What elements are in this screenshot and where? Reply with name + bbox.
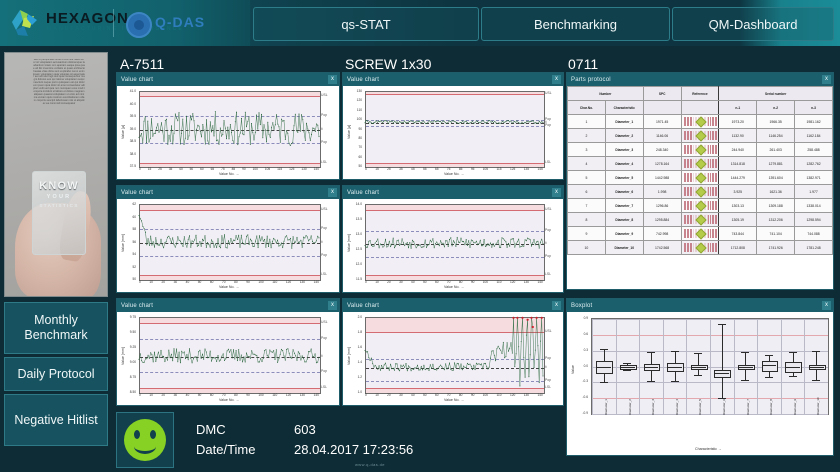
- spc-distribution-bars: [682, 243, 719, 252]
- lower-warning-line: [366, 381, 544, 382]
- upper-warning-line: [366, 120, 544, 121]
- close-icon[interactable]: x: [822, 301, 831, 310]
- panel-value-chart-2-2: Value chart x 14.013.513.012.512.011.501…: [342, 185, 564, 293]
- y-axis-label: Value [mm]: [121, 234, 125, 252]
- brand-name: HEXAGON: [46, 10, 129, 27]
- cell-characteristic: Diameter_7: [605, 199, 643, 213]
- y-tick-label: 1.0: [343, 390, 362, 394]
- promo-line-3: STATISTICS: [33, 203, 85, 208]
- whisker-cap-low: [741, 380, 749, 381]
- x-tick-label: 50: [423, 280, 427, 284]
- x-tick-label: 130: [524, 280, 529, 284]
- usl-line: [140, 96, 320, 97]
- x-tick-label: 25: [387, 167, 391, 171]
- x-tick-label: 140: [314, 280, 319, 284]
- y-tick-label: 0.3: [567, 348, 588, 352]
- panel-title: Value chart: [343, 190, 379, 196]
- cell-n3: 1781.248: [795, 241, 833, 255]
- cell-value: 1.998: [643, 185, 681, 199]
- y-tick-label: 70: [343, 145, 362, 149]
- group-header-spc: SPC: [643, 87, 681, 101]
- y-tick-label: 130: [343, 89, 362, 93]
- cell-spc-indicator: [681, 129, 719, 143]
- whisker-cap-high: [694, 353, 702, 354]
- x-tick-label: 135: [524, 167, 529, 171]
- cell-characteristic: Diameter_8: [605, 213, 643, 227]
- cell-value: 1295.884: [643, 213, 681, 227]
- y-tick-label: 9.00: [117, 360, 136, 364]
- whisker-line: [722, 324, 723, 398]
- table-body: 1Diameter_11971.451973.201966.351981.162…: [568, 115, 833, 255]
- y-tick-label: 60: [117, 215, 136, 219]
- x-tick-label: 60: [435, 280, 439, 284]
- x-tick-label: 130: [524, 393, 529, 397]
- y-tick-label: 100: [343, 117, 362, 121]
- plot-area: [365, 204, 545, 281]
- y-axis-label: Value [mm]: [347, 234, 351, 252]
- x-tick-label: 95: [471, 167, 475, 171]
- median-line: [714, 373, 729, 374]
- x-tick-label: 120: [286, 393, 291, 397]
- y-tick-label: 12.0: [343, 262, 362, 266]
- cell-spc-indicator: [681, 143, 719, 157]
- x-tick-label: 35: [169, 167, 173, 171]
- column-title-0711: 0711: [568, 56, 598, 72]
- sidebar-item-daily-protocol[interactable]: Daily Protocol: [4, 357, 108, 391]
- sidebar-item-negative-hitlist[interactable]: Negative Hitlist: [4, 394, 108, 446]
- table-row[interactable]: 9Diameter_9742.998743.844741.104744.088: [568, 227, 833, 241]
- spec-limit-label: LSL: [321, 272, 327, 276]
- group-header-number: Number: [568, 87, 644, 101]
- category-label: Diameter_3: [651, 399, 655, 415]
- dmc-value: 603: [294, 422, 316, 437]
- cell-value: 1146.06: [643, 129, 681, 143]
- panel-title: Value chart: [343, 303, 379, 309]
- spec-limit-label: USL: [545, 329, 552, 333]
- x-tick-label: 60: [200, 167, 204, 171]
- cell-spc-indicator: [681, 171, 719, 185]
- panel-body: Number SPC Reference Serial number Char.…: [567, 86, 833, 289]
- panel-title: Boxplot: [567, 303, 592, 309]
- panel-parts-protocol: Parts protocol x Number SPC Reference Se…: [566, 72, 834, 290]
- x-tick-label: 15: [375, 167, 379, 171]
- cell-n1: 1444.279: [719, 171, 757, 185]
- x-tick-label: 140: [314, 393, 319, 397]
- cell-n3: 1981.162: [795, 115, 833, 129]
- median-line: [596, 367, 611, 368]
- x-tick-label: 0: [139, 280, 141, 284]
- x-tick-label: 130: [301, 167, 306, 171]
- cell-n2: 1279.881: [757, 157, 795, 171]
- spec-limit-label: Pop: [321, 253, 327, 257]
- brand-bar: HEXAGON MANUFACTURING INTELLIGENCE Q-DAS: [0, 0, 250, 46]
- panel-value-chart-1-3: Value chart x 9.759.509.259.008.758.5001…: [116, 298, 340, 406]
- panel-title: Value chart: [343, 77, 379, 83]
- x-axis-label: Value No. →: [219, 398, 239, 402]
- x-tick-label: 90: [471, 280, 475, 284]
- y-tick-label: 39.5: [117, 114, 136, 118]
- cell-n3: 1.977: [795, 185, 833, 199]
- cell-n2: 1312.206: [757, 213, 795, 227]
- panel-header: Value chart x: [343, 186, 563, 199]
- y-tick-label: 1.8: [343, 330, 362, 334]
- x-tick-label: 80: [459, 393, 463, 397]
- sidebar-item-monthly-benchmark[interactable]: Monthly Benchmark: [4, 302, 108, 354]
- y-tick-label: 1.4: [343, 360, 362, 364]
- lsl-line: [140, 275, 320, 276]
- x-tick-label: 20: [161, 393, 165, 397]
- x-tick-label: 130: [300, 280, 305, 284]
- panel-header: Value chart x: [343, 299, 563, 312]
- cell-n3: 1338.014: [795, 199, 833, 213]
- y-tick-label: 120: [343, 98, 362, 102]
- cell-n2: 1741.926: [757, 241, 795, 255]
- box[interactable]: [762, 361, 779, 371]
- promo-line-2: YOUR: [33, 194, 85, 200]
- mean-line: [366, 368, 544, 369]
- category-separator: [734, 319, 735, 414]
- median-line: [785, 367, 800, 368]
- panel-header: Value chart x: [117, 186, 339, 199]
- spc-distribution-bars: [682, 145, 719, 154]
- x-tick-label: 40: [186, 393, 190, 397]
- table-row[interactable]: 1Diameter_11971.451973.201966.351981.162: [568, 115, 833, 129]
- close-icon[interactable]: x: [328, 75, 337, 84]
- x-tick-label: 140: [537, 280, 542, 284]
- spec-limit-label: x̄: [321, 354, 323, 358]
- x-tick-label: 60: [210, 280, 214, 284]
- whisker-cap-low: [647, 381, 655, 382]
- promo-image: sed ut perspiciatis unde omnis iste natu…: [4, 52, 108, 297]
- x-tick-label: 75: [447, 167, 451, 171]
- x-tick-label: 100: [253, 167, 258, 171]
- category-label: Diameter_9: [793, 399, 797, 415]
- x-tick-label: 0: [139, 167, 141, 171]
- x-tick-label: 120: [286, 280, 291, 284]
- spec-limit-label: USL: [321, 93, 328, 97]
- x-tick-label: 100: [483, 393, 488, 397]
- cell-characteristic: Diameter_10: [605, 241, 643, 255]
- y-axis-label: Value [mm]: [121, 347, 125, 365]
- x-tick-label: 100: [483, 280, 488, 284]
- panel-boxplot: Boxplot x 0.90.60.30.0-0.3-0.6-0.9Diamet…: [566, 298, 834, 456]
- plot-area: [139, 204, 321, 281]
- table-row[interactable]: 5Diameter_51442.9881444.2791391.6041382.…: [568, 171, 833, 185]
- median-line: [620, 367, 635, 368]
- x-tick-label: 30: [399, 393, 403, 397]
- whisker-cap-high: [765, 355, 773, 356]
- y-tick-label: 40.0: [117, 102, 136, 106]
- y-tick-label: 58: [117, 227, 136, 231]
- cell-value: 248.340: [643, 143, 681, 157]
- spec-limit-label: Pop: [545, 378, 551, 382]
- category-label: Diameter_5: [698, 399, 702, 415]
- spec-limit-label: USL: [321, 207, 328, 211]
- x-tick-label: 40: [179, 167, 183, 171]
- plot-area: [365, 91, 545, 168]
- category-separator: [710, 319, 711, 414]
- median-line: [762, 365, 777, 366]
- category-separator: [592, 319, 593, 414]
- spec-limit-label: LSL: [545, 160, 551, 164]
- x-tick-label: 55: [423, 167, 427, 171]
- tab-benchmarking[interactable]: Benchmarking: [481, 7, 670, 41]
- col-n2: n-2: [757, 101, 795, 115]
- whisker-cap-high: [623, 363, 631, 364]
- x-axis-label: Value No. →: [444, 398, 464, 402]
- panel-header: Value chart x: [343, 73, 563, 86]
- whisker-cap-low: [694, 375, 702, 376]
- spec-limit-label: USL: [321, 320, 328, 324]
- spec-limit-label: Pop: [545, 228, 551, 232]
- panel-title: Value chart: [117, 190, 153, 196]
- category-separator: [804, 319, 805, 414]
- y-tick-label: -0.9: [567, 411, 588, 415]
- median-line: [691, 367, 706, 368]
- cell-char-no: 1: [568, 115, 606, 129]
- usl-line: [140, 323, 320, 324]
- cell-value: 742.998: [643, 227, 681, 241]
- status-badge: [116, 412, 174, 468]
- table-row[interactable]: 2Diameter_21146.061132.901146.2541162.18…: [568, 129, 833, 143]
- spec-limit-label: x̄: [545, 241, 547, 245]
- x-tick-label: 0: [365, 280, 367, 284]
- whisker-cap-low: [789, 376, 797, 377]
- x-tick-label: 30: [174, 280, 178, 284]
- y-tick-label: 0.6: [567, 332, 588, 336]
- y-tick-label: 37.5: [117, 164, 136, 168]
- hexagon-logo-icon: [10, 8, 40, 38]
- x-tick-label: 10: [375, 280, 379, 284]
- cell-n1: 1305.19: [719, 213, 757, 227]
- cell-characteristic: Diameter_4: [605, 157, 643, 171]
- x-tick-label: 35: [399, 167, 403, 171]
- smiley-eye-right: [150, 430, 156, 439]
- panel-body: 9.759.509.259.008.758.500102030405060708…: [117, 312, 339, 405]
- panel-title: Parts protocol: [567, 77, 611, 83]
- panel-body: 2.01.81.61.41.21.00102030405060708090100…: [343, 312, 563, 405]
- y-tick-label: 9.25: [117, 345, 136, 349]
- category-label: Diameter_4: [675, 399, 679, 415]
- category-separator: [757, 319, 758, 414]
- lower-warning-line: [366, 257, 544, 258]
- spec-limit-label: LSL: [321, 385, 327, 389]
- x-tick-label: 20: [387, 393, 391, 397]
- brand-divider: [113, 9, 114, 37]
- y-tick-label: 8.50: [117, 390, 136, 394]
- category-separator: [663, 319, 664, 414]
- y-axis-label: Value [µ]: [121, 125, 125, 139]
- y-tick-label: 50: [343, 164, 362, 168]
- lower-warning-line: [140, 143, 320, 144]
- smiley-ok-icon: [124, 419, 166, 461]
- median-line: [644, 367, 659, 368]
- spc-distribution-bars: [682, 117, 719, 126]
- cell-n3: 258.488: [795, 143, 833, 157]
- x-tick-label: 130: [300, 393, 305, 397]
- x-tick-label: 50: [198, 280, 202, 284]
- whisker-cap-low: [765, 377, 773, 378]
- panel-title: Value chart: [117, 77, 153, 83]
- mean-line: [366, 123, 544, 124]
- y-tick-label: 56: [117, 240, 136, 244]
- spec-limit-label: Pop: [321, 369, 327, 373]
- spec-limit-label: x̄: [545, 365, 547, 369]
- x-tick-label: 50: [198, 393, 202, 397]
- median-line: [667, 367, 682, 368]
- x-tick-row: 0102030405060708090100110120130140: [365, 280, 543, 284]
- whisker-cap-high: [812, 351, 820, 352]
- mean-line: [140, 357, 320, 358]
- spc-distribution-bars: [682, 215, 719, 224]
- close-icon[interactable]: x: [328, 301, 337, 310]
- group-header-reference: Reference: [681, 87, 719, 101]
- x-tick-label: 15: [148, 167, 152, 171]
- table-head: Number SPC Reference Serial number Char.…: [568, 87, 833, 115]
- lower-warning-line: [366, 126, 544, 127]
- panel-header: Parts protocol x: [567, 73, 833, 86]
- spc-distribution-bars: [682, 173, 719, 182]
- close-icon[interactable]: x: [552, 188, 561, 197]
- spec-limit-label: Pop: [321, 226, 327, 230]
- usl-line: [366, 332, 544, 333]
- y-tick-label: -0.3: [567, 379, 588, 383]
- x-axis-label: Value No. →: [219, 172, 239, 176]
- x-tick-label: 10: [149, 393, 153, 397]
- cell-spc-indicator: [681, 241, 719, 255]
- cell-n1: 1132.90: [719, 129, 757, 143]
- lsl-line: [366, 163, 544, 164]
- y-tick-label: 9.50: [117, 330, 136, 334]
- whisker-cap-high: [741, 352, 749, 353]
- cell-spc-indicator: [681, 227, 719, 241]
- x-tick-label: 120: [510, 393, 515, 397]
- status-bar: DMC 603 Date/Time 28.04.2017 17:23:56: [116, 410, 561, 468]
- tab-qm-dashboard[interactable]: QM-Dashboard: [672, 7, 834, 41]
- spec-limit-label: x̄: [321, 127, 323, 131]
- x-tick-label: 30: [399, 280, 403, 284]
- whisker-cap-high: [647, 352, 655, 353]
- cell-char-no: 5: [568, 171, 606, 185]
- x-tick-label: 140: [537, 393, 542, 397]
- y-tick-label: 8.75: [117, 375, 136, 379]
- cell-characteristic: Diameter_9: [605, 227, 643, 241]
- smiley-mouth: [134, 439, 156, 454]
- x-tick-label: 125: [510, 167, 515, 171]
- cell-characteristic: Diameter_2: [605, 129, 643, 143]
- x-tick-row: 0102030405060708090100110120130140: [139, 393, 319, 397]
- cell-char-no: 10: [568, 241, 606, 255]
- x-tick-label: 100: [258, 280, 263, 284]
- y-axis-label: Value [µ]: [347, 125, 351, 139]
- spec-limit-label: Pop: [321, 140, 327, 144]
- phone-illustration: KNOW YOUR STATISTICS: [32, 171, 86, 255]
- panel-header: Value chart x: [117, 73, 339, 86]
- cell-n1: 1712.808: [719, 241, 757, 255]
- tab-qs-stat[interactable]: qs-STAT: [253, 7, 479, 41]
- x-tick-label: 115: [277, 167, 282, 171]
- x-tick-label: 75: [221, 167, 225, 171]
- lsl-line: [366, 275, 544, 276]
- x-tick-label: 80: [234, 393, 238, 397]
- y-tick-label: -0.6: [567, 395, 588, 399]
- usl-line: [366, 210, 544, 211]
- x-tick-label: 40: [411, 280, 415, 284]
- cell-n1: 743.844: [719, 227, 757, 241]
- cell-characteristic: Diameter_6: [605, 185, 643, 199]
- x-axis-label: Value No. →: [219, 285, 239, 289]
- close-icon[interactable]: x: [822, 75, 831, 84]
- panel-body: 1301201101009080706050515253545556575859…: [343, 86, 563, 179]
- whisker-cap-high: [718, 324, 726, 325]
- cell-n2: 1391.604: [757, 171, 795, 185]
- cell-n2: 261.403: [757, 143, 795, 157]
- column-title-a7511: A-7511: [120, 56, 164, 72]
- product-name: Q-DAS: [155, 14, 205, 30]
- usl-line: [140, 210, 320, 211]
- spec-limit-label: Pop: [545, 356, 551, 360]
- table-row[interactable]: 3Diameter_3248.340244.940261.403258.488: [568, 143, 833, 157]
- x-tick-label: 25: [158, 167, 162, 171]
- panel-value-chart-2-1: Value chart x 13012011010090807060505152…: [342, 72, 564, 180]
- close-icon[interactable]: x: [552, 75, 561, 84]
- whisker-cap-low: [600, 382, 608, 383]
- col-n3: n-3: [795, 101, 833, 115]
- cell-char-no: 8: [568, 213, 606, 227]
- spec-limit-label: x̄: [321, 240, 323, 244]
- y-tick-label: 41.0: [117, 89, 136, 93]
- spec-limit-label: USL: [545, 91, 552, 95]
- x-tick-label: 0: [365, 393, 367, 397]
- spc-distribution-bars: [682, 131, 719, 140]
- upper-warning-line: [140, 339, 320, 340]
- table-row[interactable]: 7Diameter_71296.861303.131309.1881338.01…: [568, 199, 833, 213]
- x-axis-label: Value No. →: [444, 172, 464, 176]
- x-tick-label: 140: [314, 167, 319, 171]
- table-row[interactable]: 8Diameter_81295.8841305.191312.2061298.5…: [568, 213, 833, 227]
- x-tick-label: 50: [190, 167, 194, 171]
- spec-limit-label: LSL: [545, 272, 551, 276]
- usl-band: [366, 318, 544, 332]
- close-icon[interactable]: x: [328, 188, 337, 197]
- cell-n3: 1298.594: [795, 213, 833, 227]
- y-axis-label: Value [mm]: [347, 347, 351, 365]
- table-row[interactable]: 10Diameter_101742.5681712.8081741.926178…: [568, 241, 833, 255]
- close-icon[interactable]: x: [552, 301, 561, 310]
- col-spc-indicator: [681, 101, 719, 115]
- x-tick-label: 105: [483, 167, 488, 171]
- cell-n2: 1966.35: [757, 115, 795, 129]
- lsl-line: [140, 388, 320, 389]
- footer-note: www.q-das.de: [355, 462, 385, 467]
- panel-header: Boxplot x: [567, 299, 833, 312]
- y-tick-label: 60: [343, 155, 362, 159]
- spec-limit-label: LSL: [545, 385, 551, 389]
- whisker-cap-high: [600, 349, 608, 350]
- median-line: [738, 367, 753, 368]
- x-tick-label: 65: [435, 167, 439, 171]
- cell-n2: 741.104: [757, 227, 795, 241]
- panel-value-chart-2-3: Value chart x 2.01.81.61.41.21.001020304…: [342, 298, 564, 406]
- spec-limit-label: Pop: [545, 254, 551, 258]
- cell-value: 1296.86: [643, 199, 681, 213]
- table-row[interactable]: 6Diameter_61.9983.9251621.361.977: [568, 185, 833, 199]
- dmc-label: DMC: [196, 422, 226, 437]
- table-row[interactable]: 4Diameter_41278.1641314.8181279.8811282.…: [568, 157, 833, 171]
- cell-spc-indicator: [681, 213, 719, 227]
- x-tick-label: 80: [459, 280, 463, 284]
- category-separator: [639, 319, 640, 414]
